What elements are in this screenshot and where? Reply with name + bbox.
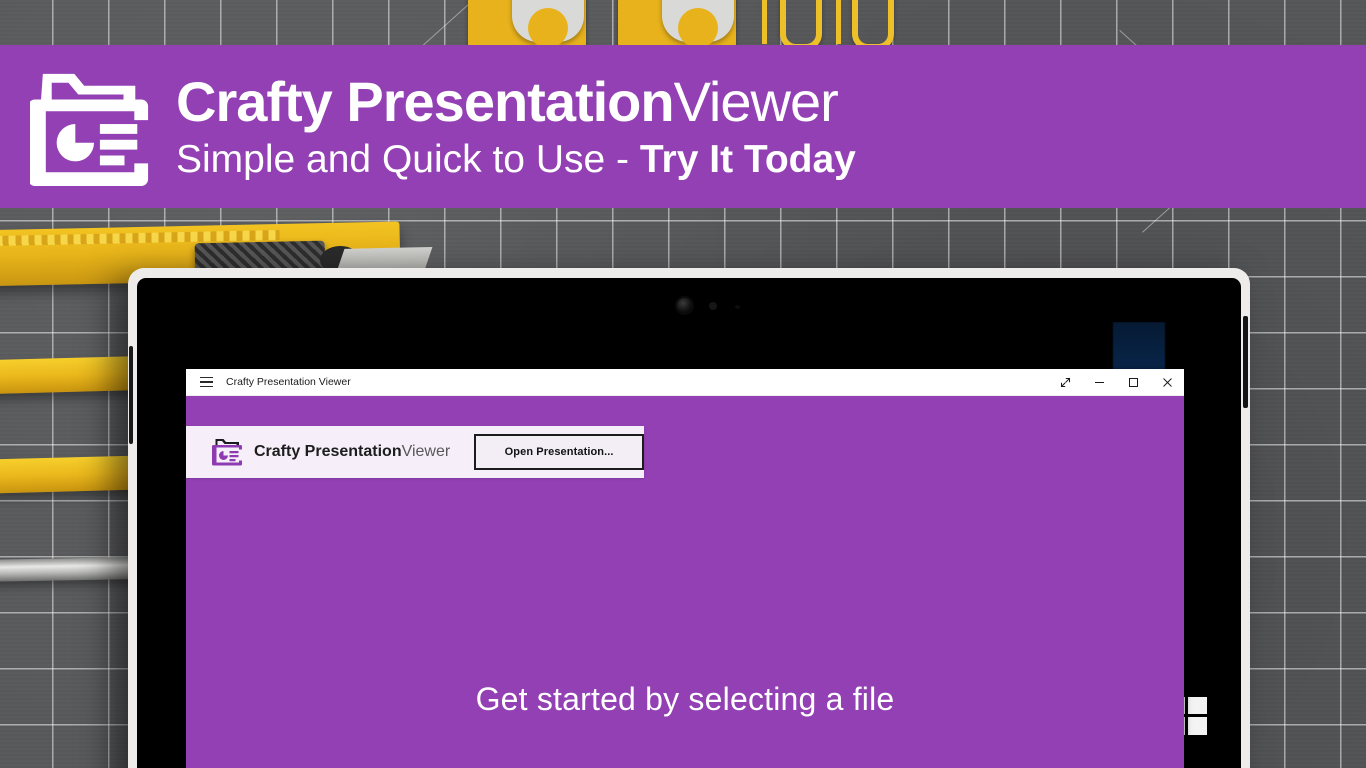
- tablet-power-button[interactable]: [1243, 316, 1248, 408]
- minimize-button[interactable]: [1082, 369, 1116, 395]
- hero-message: Get started by selecting a file: [186, 681, 1184, 718]
- app-title: Crafty Presentation Viewer: [226, 376, 351, 388]
- tablet-device: Crafty Presentation Viewer: [128, 268, 1250, 768]
- toolbar-brand-light: Viewer: [402, 443, 451, 460]
- binder-clip-knob: [528, 8, 568, 48]
- app-titlebar: Crafty Presentation Viewer: [186, 369, 1184, 396]
- presentation-folder-icon: [30, 68, 158, 186]
- banner-title-bold: Crafty Presentation: [176, 70, 674, 133]
- sensor-icon: [735, 305, 740, 309]
- banner-text-block: Crafty PresentationViewer Simple and Qui…: [176, 74, 858, 179]
- toolbar-brand: Crafty PresentationViewer: [254, 443, 450, 461]
- sensor-icon: [709, 302, 717, 310]
- banner-subtitle-bold: Try It Today: [640, 138, 856, 181]
- paper-clip: [780, 0, 822, 50]
- toolbar-brand-bold: Crafty Presentation: [254, 443, 402, 460]
- close-button[interactable]: [1150, 369, 1184, 395]
- app-window: Crafty Presentation Viewer: [186, 369, 1184, 768]
- app-content-area: Crafty PresentationViewer Open Presentat…: [186, 396, 1184, 768]
- presentation-folder-icon: [212, 437, 245, 467]
- app-toolbar: Crafty PresentationViewer Open Presentat…: [186, 426, 644, 478]
- screenshot-canvas: Crafty Presentation Viewer: [0, 0, 1366, 768]
- paper-clip-tail: [762, 0, 767, 44]
- binder-clip-knob: [678, 8, 718, 48]
- hamburger-menu-icon[interactable]: [186, 369, 226, 395]
- banner-subtitle-light: Simple and Quick to Use -: [176, 138, 640, 181]
- open-presentation-button[interactable]: Open Presentation...: [474, 434, 644, 470]
- camera-icon: [677, 298, 692, 313]
- tablet-screen: Crafty Presentation Viewer: [137, 278, 1241, 768]
- paper-clip: [852, 0, 894, 50]
- binder-clip-handle: [662, 0, 734, 42]
- restore-expand-button[interactable]: [1048, 369, 1082, 395]
- banner-subtitle: Simple and Quick to Use - Try It Today: [176, 140, 858, 179]
- banner-title: Crafty PresentationViewer: [176, 74, 858, 130]
- tablet-side-button[interactable]: [129, 346, 133, 444]
- promo-banner: Crafty PresentationViewer Simple and Qui…: [0, 45, 1366, 208]
- banner-title-light: Viewer: [674, 70, 838, 133]
- window-controls: [1048, 369, 1184, 395]
- binder-clip-handle: [512, 0, 584, 42]
- windows-desktop: Crafty Presentation Viewer: [137, 322, 1241, 768]
- maximize-button[interactable]: [1116, 369, 1150, 395]
- paper-clip-tail: [836, 0, 841, 44]
